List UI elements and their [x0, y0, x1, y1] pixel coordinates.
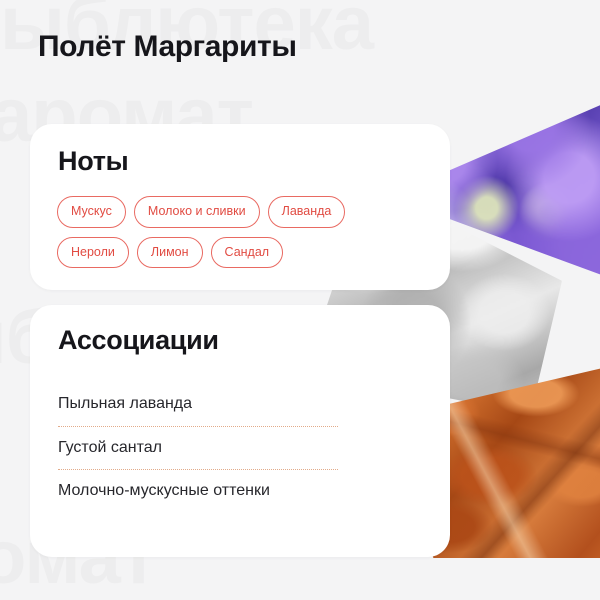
list-separator	[58, 426, 338, 427]
association-item: Густой сантал	[58, 427, 338, 470]
page-title: Полёт Маргариты	[38, 30, 297, 64]
card-canvas: ыблютека аромат иблиоте омат Полёт Марга…	[0, 0, 600, 600]
list-separator	[58, 469, 338, 470]
notes-heading: Ноты	[58, 146, 128, 177]
associations-card: Ассоциации Пыльная лаванда Густой сантал…	[30, 305, 450, 557]
note-tag[interactable]: Сандал	[211, 237, 284, 269]
note-tag[interactable]: Лаванда	[268, 196, 346, 228]
association-item: Пыльная лаванда	[58, 383, 338, 426]
associations-heading: Ассоциации	[58, 325, 219, 356]
associations-list: Пыльная лаванда Густой сантал Молочно-му…	[58, 383, 338, 513]
notes-tag-list: Мускус Молоко и сливки Лаванда Нероли Ли…	[57, 196, 387, 268]
notes-card: Ноты Мускус Молоко и сливки Лаванда Неро…	[30, 124, 450, 290]
association-item: Молочно-мускусные оттенки	[58, 470, 338, 513]
note-tag[interactable]: Молоко и сливки	[134, 196, 260, 228]
note-tag[interactable]: Нероли	[57, 237, 129, 269]
note-tag[interactable]: Мускус	[57, 196, 126, 228]
note-tag[interactable]: Лимон	[137, 237, 203, 269]
